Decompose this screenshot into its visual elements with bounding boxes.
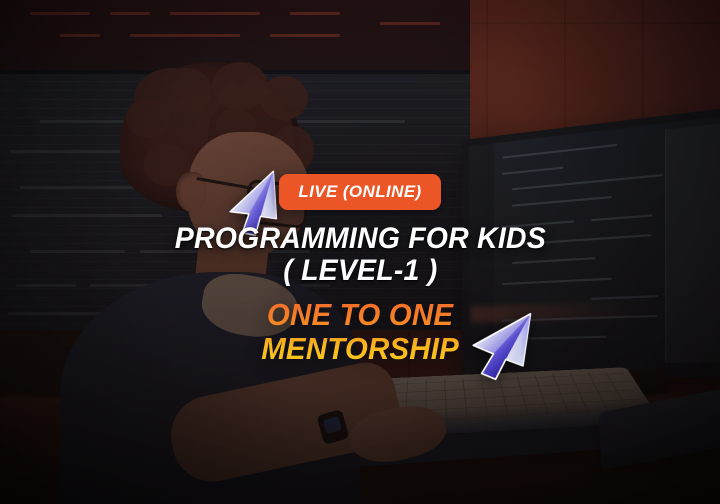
live-online-badge: LIVE (ONLINE): [279, 174, 440, 210]
subheadline-line-1: ONE TO ONE: [267, 297, 453, 332]
banner-content: LIVE (ONLINE) PROGRAMMING FOR KIDS ( LEV…: [0, 0, 720, 504]
headline: PROGRAMMING FOR KIDS ( LEVEL-1 ): [174, 223, 545, 287]
subheadline: ONE TO ONE MENTORSHIP: [261, 298, 459, 365]
subheadline-line-2: MENTORSHIP: [261, 332, 459, 365]
headline-line-2: ( LEVEL-1 ): [174, 255, 545, 287]
promo-banner: LIVE (ONLINE) PROGRAMMING FOR KIDS ( LEV…: [0, 0, 720, 504]
headline-line-1: PROGRAMMING FOR KIDS: [174, 222, 545, 255]
